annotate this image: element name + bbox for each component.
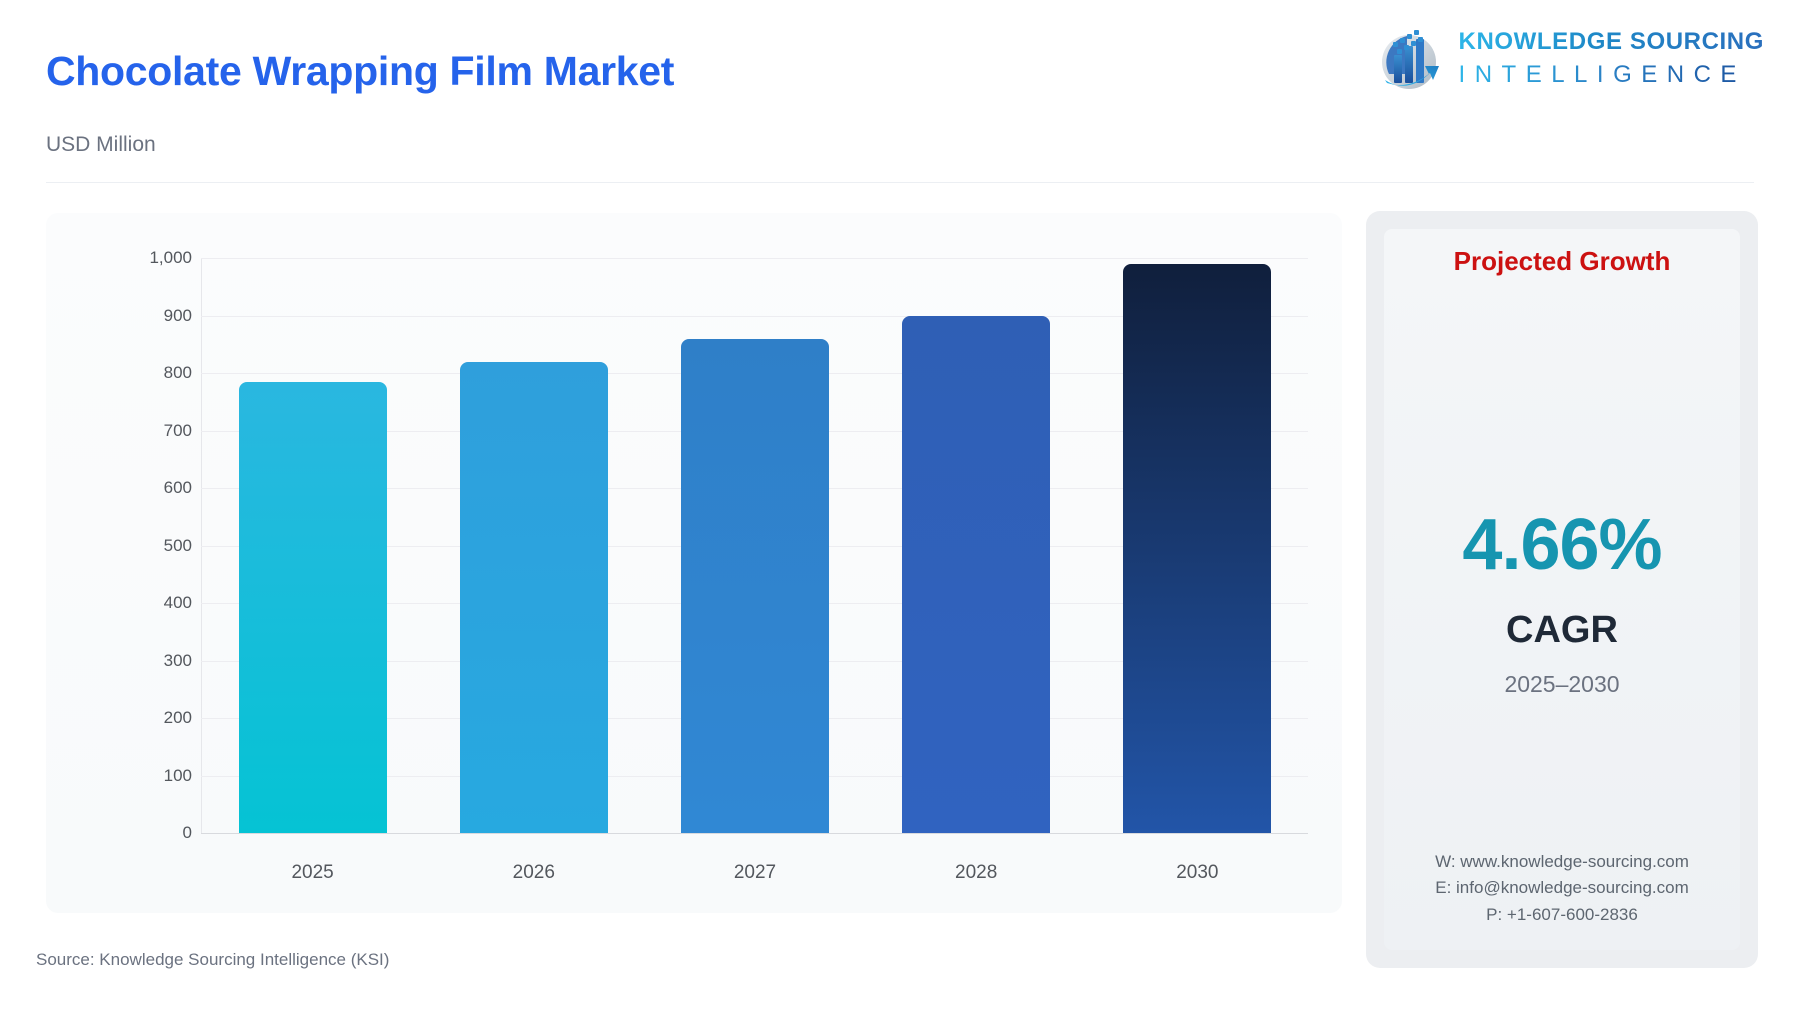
bar-2026[interactable]	[460, 362, 608, 834]
cagr-period: 2025–2030	[1384, 671, 1740, 698]
y-axis-tick: 800	[164, 363, 192, 383]
bar-column	[877, 258, 1076, 833]
logo-line-intelligence: INTELLIGENCE	[1459, 63, 1764, 87]
x-axis-tick: 2025	[291, 862, 333, 884]
brand-logo: KNOWLEDGE SOURCING INTELLIGENCE	[1373, 22, 1764, 94]
y-axis-tick: 1,000	[149, 248, 192, 268]
cagr-value: 4.66%	[1384, 504, 1740, 586]
globe-bar-arrow-icon	[1373, 22, 1445, 94]
cagr-label: CAGR	[1384, 609, 1740, 652]
bar-2025[interactable]	[239, 382, 387, 833]
bar-column	[1098, 258, 1297, 833]
panel-inner: Projected Growth 4.66% CAGR 2025–2030 W:…	[1384, 229, 1740, 950]
chart-page: Chocolate Wrapping Film Market USD Milli…	[0, 0, 1800, 1012]
y-axis-tick: 200	[164, 708, 192, 728]
y-axis-tick: 0	[183, 823, 192, 843]
y-axis-tick: 900	[164, 306, 192, 326]
projected-growth-panel: Projected Growth 4.66% CAGR 2025–2030 W:…	[1366, 211, 1758, 968]
y-axis-tick: 700	[164, 421, 192, 441]
gridline	[201, 833, 1308, 834]
logo-line-knowledge-sourcing: KNOWLEDGE SOURCING	[1459, 30, 1764, 54]
bar-series	[202, 258, 1308, 833]
panel-heading: Projected Growth	[1384, 246, 1740, 277]
y-axis-tick: 100	[164, 766, 192, 786]
bar-column	[655, 258, 854, 833]
page-subtitle: USD Million	[46, 133, 156, 157]
bar-2030[interactable]	[1123, 264, 1271, 833]
y-axis-tick: 600	[164, 478, 192, 498]
contact-website[interactable]: W: www.knowledge-sourcing.com	[1384, 849, 1740, 875]
x-axis-tick: 2028	[955, 862, 997, 884]
contact-info: W: www.knowledge-sourcing.com E: info@kn…	[1384, 849, 1740, 928]
contact-phone[interactable]: P: +1-607-600-2836	[1384, 902, 1740, 928]
source-note: Source: Knowledge Sourcing Intelligence …	[36, 950, 389, 970]
page-header: Chocolate Wrapping Film Market USD Milli…	[0, 0, 1800, 186]
y-axis-tick: 300	[164, 651, 192, 671]
page-title: Chocolate Wrapping Film Market	[46, 48, 674, 95]
logo-wordmark: KNOWLEDGE SOURCING INTELLIGENCE	[1459, 30, 1764, 87]
bar-chart-plot: 01002003004005006007008009001,000 202520…	[156, 258, 1308, 833]
x-axis-tick: 2027	[734, 862, 776, 884]
bar-2028[interactable]	[902, 316, 1050, 834]
bar-2027[interactable]	[681, 339, 829, 834]
chart-card: 01002003004005006007008009001,000 202520…	[46, 213, 1342, 913]
bar-column	[213, 258, 412, 833]
x-axis-tick: 2030	[1176, 862, 1218, 884]
header-divider	[46, 182, 1754, 183]
x-axis-tick: 2026	[513, 862, 555, 884]
contact-email[interactable]: E: info@knowledge-sourcing.com	[1384, 875, 1740, 901]
y-axis-tick: 400	[164, 593, 192, 613]
y-axis-tick: 500	[164, 536, 192, 556]
bar-column	[434, 258, 633, 833]
